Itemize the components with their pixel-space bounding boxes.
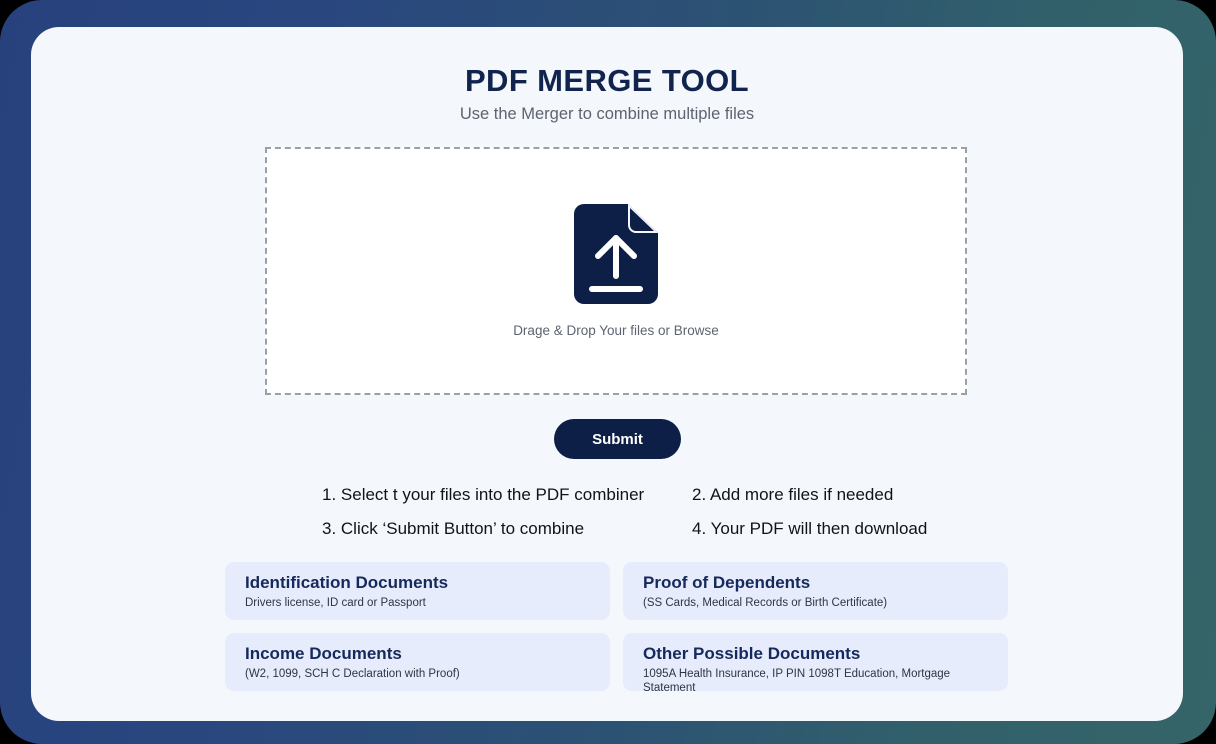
- document-card-title: Identification Documents: [245, 572, 590, 593]
- instructions-row: 3. Click ‘Submit Button’ to combine 4. Y…: [302, 519, 942, 539]
- dropzone-label: Drage & Drop Your files or Browse: [513, 323, 719, 338]
- document-card-subtitle: (SS Cards, Medical Records or Birth Cert…: [643, 597, 988, 611]
- document-card-subtitle: (W2, 1099, SCH C Declaration with Proof): [245, 668, 590, 682]
- instruction-step-4: 4. Your PDF will then download: [692, 519, 927, 539]
- upload-document-icon: [574, 204, 658, 304]
- page-subtitle: Use the Merger to combine multiple files: [31, 105, 1183, 124]
- panel-content: PDF MERGE TOOL Use the Merger to combine…: [31, 27, 1183, 721]
- submit-button[interactable]: Submit: [554, 419, 681, 459]
- document-card-grid: Identification Documents Drivers license…: [225, 562, 1008, 691]
- main-panel: PDF MERGE TOOL Use the Merger to combine…: [31, 27, 1183, 721]
- document-card-title: Income Documents: [245, 643, 590, 664]
- instruction-step-1: 1. Select t your files into the PDF comb…: [302, 485, 692, 505]
- instructions-row: 1. Select t your files into the PDF comb…: [302, 485, 942, 505]
- file-dropzone[interactable]: Drage & Drop Your files or Browse: [265, 147, 967, 395]
- document-card-subtitle: 1095A Health Insurance, IP PIN 1098T Edu…: [643, 668, 988, 696]
- document-card-title: Proof of Dependents: [643, 572, 988, 593]
- instruction-step-2: 2. Add more files if needed: [692, 485, 893, 505]
- document-card-title: Other Possible Documents: [643, 643, 988, 664]
- document-card[interactable]: Identification Documents Drivers license…: [225, 562, 610, 620]
- document-card-subtitle: Drivers license, ID card or Passport: [245, 597, 590, 611]
- instruction-step-3: 3. Click ‘Submit Button’ to combine: [302, 519, 692, 539]
- instructions-list: 1. Select t your files into the PDF comb…: [302, 485, 942, 553]
- document-card[interactable]: Other Possible Documents 1095A Health In…: [623, 633, 1008, 691]
- app-frame: PDF MERGE TOOL Use the Merger to combine…: [0, 0, 1216, 744]
- document-card[interactable]: Income Documents (W2, 1099, SCH C Declar…: [225, 633, 610, 691]
- page-title: PDF MERGE TOOL: [31, 63, 1183, 99]
- document-card[interactable]: Proof of Dependents (SS Cards, Medical R…: [623, 562, 1008, 620]
